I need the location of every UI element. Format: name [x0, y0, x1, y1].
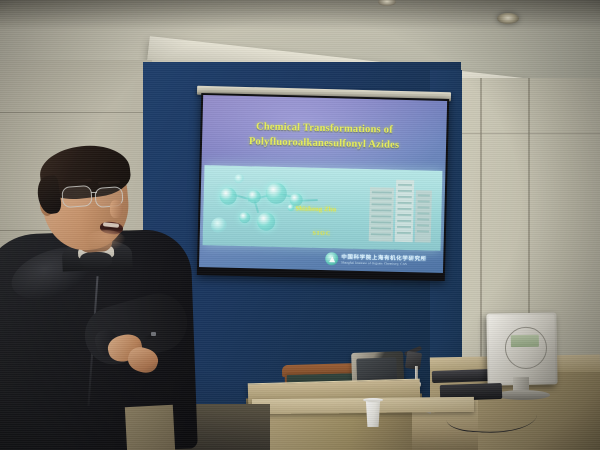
presenter-chin — [86, 230, 126, 252]
eyeglasses-lens-left — [61, 185, 92, 208]
projection-screen: Chemical Transformations of Polyfluoroal… — [197, 93, 449, 281]
slide-content-band: Shizheng Zhu SIOC — [203, 165, 443, 251]
presenter-nose — [110, 200, 123, 218]
slide-title: Chemical Transformations of Polyfluoroal… — [202, 118, 447, 154]
lcd-monitor[interactable] — [486, 312, 557, 385]
institute-logo-icon — [325, 252, 338, 265]
presenter-trousers — [125, 405, 175, 450]
projected-slide: Chemical Transformations of Polyfluoroal… — [199, 95, 447, 273]
slide-speaker-name: Shizheng Zhu — [295, 205, 336, 213]
microphone-head — [405, 351, 422, 370]
inner-shirt — [80, 252, 112, 268]
monitor-spec-label — [511, 335, 539, 347]
eyeglasses-bridge — [91, 192, 97, 193]
lecture-hall-photo: Chemical Transformations of Polyfluoroal… — [0, 0, 600, 450]
institute-logo: 中国科学院上海有机化学研究所 Shanghai Institute of Org… — [325, 250, 435, 270]
paper-cup-rim — [363, 398, 383, 402]
recessed-ceiling-light-icon — [497, 13, 519, 24]
keyboard[interactable] — [432, 369, 492, 383]
bullet-icon — [287, 204, 294, 211]
laser-pointer-tip — [151, 332, 156, 336]
